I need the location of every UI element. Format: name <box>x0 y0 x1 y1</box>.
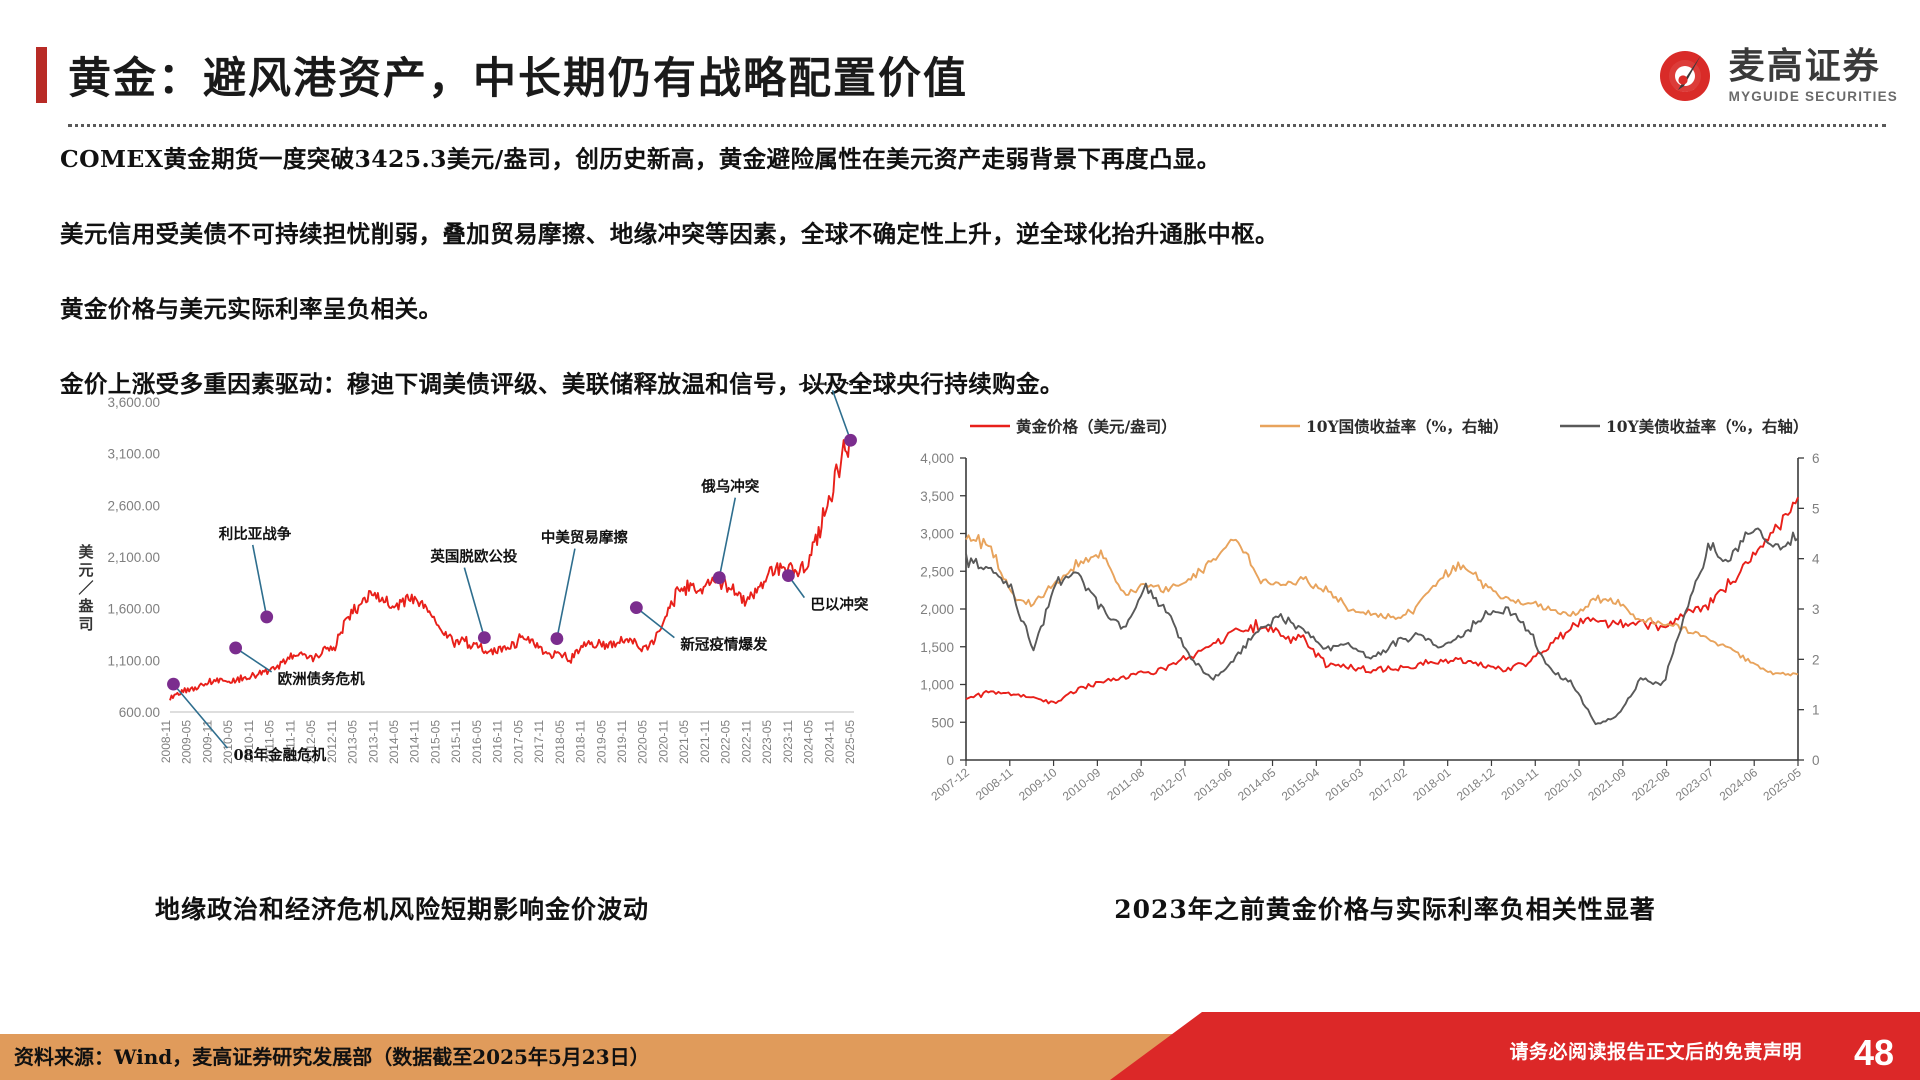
svg-text:2010-09: 2010-09 <box>1060 765 1104 803</box>
svg-text:2012-11: 2012-11 <box>325 720 339 763</box>
svg-text:08年金融危机: 08年金融危机 <box>233 746 326 764</box>
svg-text:欧洲债务危机: 欧洲债务危机 <box>278 670 365 688</box>
svg-text:3,600.00: 3,600.00 <box>107 395 160 410</box>
svg-text:2,000: 2,000 <box>920 602 954 617</box>
svg-text:1,600.00: 1,600.00 <box>107 602 160 617</box>
chart-gold-vs-yields: 黄金价格（美元/盎司）10Y国债收益率（%，右轴）10Y美债收益率（%，右轴）0… <box>880 382 1890 942</box>
svg-text:500: 500 <box>931 715 954 730</box>
svg-text:4,000: 4,000 <box>920 451 954 466</box>
svg-text:2008-11: 2008-11 <box>973 765 1016 803</box>
svg-text:2023-11: 2023-11 <box>781 720 795 763</box>
svg-text:3: 3 <box>1812 602 1820 617</box>
header-divider <box>68 124 1886 127</box>
svg-text:1,000: 1,000 <box>920 678 954 693</box>
svg-text:1: 1 <box>1812 703 1820 718</box>
svg-text:2024-05: 2024-05 <box>802 720 816 764</box>
svg-text:2017-11: 2017-11 <box>532 720 546 763</box>
svg-text:3,000: 3,000 <box>920 527 954 542</box>
chart-gold-vs-yields-caption: 2023年之前黄金价格与实际利率负相关性显著 <box>880 890 1890 926</box>
logo-company-name-en: MYGUIDE SECURITIES <box>1729 90 1898 104</box>
svg-text:2013-11: 2013-11 <box>366 720 380 763</box>
svg-text:2024-06: 2024-06 <box>1717 765 1761 803</box>
svg-text:2016-05: 2016-05 <box>470 720 484 764</box>
svg-text:英国脱欧公投: 英国脱欧公投 <box>430 548 517 566</box>
svg-text:600.00: 600.00 <box>119 705 160 720</box>
svg-text:新冠疫情爆发: 新冠疫情爆发 <box>680 636 767 654</box>
chart-gold-history-caption: 地缘政治和经济危机风险短期影响金价波动 <box>52 890 752 926</box>
svg-text:2023-05: 2023-05 <box>760 720 774 764</box>
svg-text:2022-11: 2022-11 <box>739 720 753 763</box>
svg-text:2013-05: 2013-05 <box>346 720 360 764</box>
svg-text:2023-07: 2023-07 <box>1673 765 1717 803</box>
svg-text:2017-02: 2017-02 <box>1366 765 1410 803</box>
svg-text:2025-05: 2025-05 <box>843 720 857 764</box>
svg-text:1,100.00: 1,100.00 <box>107 653 160 668</box>
bullet-item: COMEX黄金期货一度突破3425.3美元/盎司，创历史新高，黄金避险属性在美元… <box>60 140 1860 174</box>
svg-text:利比亚战争: 利比亚战争 <box>219 525 292 543</box>
page-number: 48 <box>1854 1032 1894 1074</box>
svg-text:2022-05: 2022-05 <box>719 720 733 764</box>
svg-text:中美贸易摩擦: 中美贸易摩擦 <box>541 529 628 547</box>
svg-text:2019-11: 2019-11 <box>1498 765 1541 803</box>
svg-text:2020-05: 2020-05 <box>636 720 650 764</box>
svg-text:6: 6 <box>1812 451 1820 466</box>
svg-text:2025-05: 2025-05 <box>1761 765 1805 803</box>
disclaimer-text: 请务必阅读报告正文后的免责声明 <box>1509 1037 1802 1064</box>
svg-text:黄金价格（美元/盎司）: 黄金价格（美元/盎司） <box>1016 417 1177 436</box>
svg-text:2007-12: 2007-12 <box>929 765 973 803</box>
svg-text:2018-05: 2018-05 <box>553 720 567 764</box>
svg-text:2021-09: 2021-09 <box>1585 765 1629 803</box>
svg-text:3,100.00: 3,100.00 <box>107 447 160 462</box>
svg-text:2011-08: 2011-08 <box>1104 765 1147 803</box>
company-logo: 麦高证券 MYGUIDE SECURITIES <box>1654 45 1898 107</box>
svg-text:俄乌冲突: 俄乌冲突 <box>700 478 759 496</box>
svg-text:2015-04: 2015-04 <box>1279 765 1323 803</box>
svg-text:0: 0 <box>946 753 954 768</box>
svg-text:2021-11: 2021-11 <box>698 720 712 763</box>
svg-text:2018-01: 2018-01 <box>1410 765 1454 803</box>
svg-text:2016-11: 2016-11 <box>491 720 505 763</box>
svg-text:2009-10: 2009-10 <box>1016 765 1060 803</box>
svg-text:2,500: 2,500 <box>920 564 954 579</box>
svg-text:2021-05: 2021-05 <box>677 720 691 764</box>
bullet-item: 美元信用受美债不可持续担忧削弱，叠加贸易摩擦、地缘冲突等因素，全球不确定性上升，… <box>60 215 1860 249</box>
svg-text:2009-11: 2009-11 <box>200 720 214 763</box>
svg-text:2020-11: 2020-11 <box>656 720 670 763</box>
myguide-logo-icon <box>1654 45 1716 107</box>
svg-text:4: 4 <box>1812 552 1820 567</box>
svg-text:10Y美债收益率（%，右轴）: 10Y美债收益率（%，右轴） <box>1606 417 1808 436</box>
svg-text:2019-05: 2019-05 <box>594 720 608 764</box>
svg-text:2018-12: 2018-12 <box>1454 765 1498 803</box>
svg-text:2014-11: 2014-11 <box>408 720 422 763</box>
svg-text:2009-05: 2009-05 <box>180 720 194 764</box>
svg-text:巴以冲突: 巴以冲突 <box>810 596 868 614</box>
title-accent-bar <box>36 47 47 103</box>
svg-text:10Y国债收益率（%，右轴）: 10Y国债收益率（%，右轴） <box>1306 417 1508 436</box>
svg-text:2019-11: 2019-11 <box>615 720 629 763</box>
svg-text:美元／盎司: 美元／盎司 <box>77 543 94 633</box>
svg-text:2017-05: 2017-05 <box>511 720 525 764</box>
svg-text:2014-05: 2014-05 <box>387 720 401 764</box>
page-footer: 资料来源：Wind，麦高证券研究发展部（数据截至2025年5月23日） 请务必阅… <box>0 1012 1920 1080</box>
source-note: 资料来源：Wind，麦高证券研究发展部（数据截至2025年5月23日） <box>14 1041 650 1070</box>
svg-text:2012-07: 2012-07 <box>1147 765 1191 803</box>
svg-text:5: 5 <box>1812 501 1820 516</box>
bullet-item: 黄金价格与美元实际利率呈负相关。 <box>60 290 1860 324</box>
svg-text:2015-11: 2015-11 <box>449 720 463 763</box>
svg-text:2022-08: 2022-08 <box>1629 765 1673 803</box>
svg-text:2,600.00: 2,600.00 <box>107 498 160 513</box>
page-header: 黄金：避风港资产，中长期仍有战略配置价值 麦高证券 MYGUIDE SECURI… <box>0 0 1920 128</box>
svg-text:2014-05: 2014-05 <box>1235 765 1279 803</box>
chart-gold-history: 600.001,100.001,600.002,100.002,600.003,… <box>52 382 872 942</box>
svg-text:2018-11: 2018-11 <box>574 720 588 763</box>
svg-text:1,500: 1,500 <box>920 640 954 655</box>
svg-text:2,100.00: 2,100.00 <box>107 550 160 565</box>
svg-text:2013-06: 2013-06 <box>1191 765 1235 803</box>
svg-text:2024-11: 2024-11 <box>822 720 836 763</box>
svg-text:美国对等关税: 美国对等关税 <box>799 382 872 388</box>
svg-text:3,500: 3,500 <box>920 489 954 504</box>
page-title: 黄金：避风港资产，中长期仍有战略配置价值 <box>68 44 968 106</box>
svg-text:2008-11: 2008-11 <box>159 720 173 763</box>
chart-gold-vs-yields-svg: 黄金价格（美元/盎司）10Y国债收益率（%，右轴）10Y美债收益率（%，右轴）0… <box>880 382 1890 882</box>
logo-company-name-cn: 麦高证券 <box>1729 49 1898 85</box>
svg-text:2015-05: 2015-05 <box>428 720 442 764</box>
chart-gold-history-svg: 600.001,100.001,600.002,100.002,600.003,… <box>52 382 872 882</box>
svg-text:2020-10: 2020-10 <box>1542 765 1586 803</box>
svg-text:2016-03: 2016-03 <box>1323 765 1367 803</box>
svg-text:2: 2 <box>1812 652 1820 667</box>
svg-text:0: 0 <box>1812 753 1820 768</box>
